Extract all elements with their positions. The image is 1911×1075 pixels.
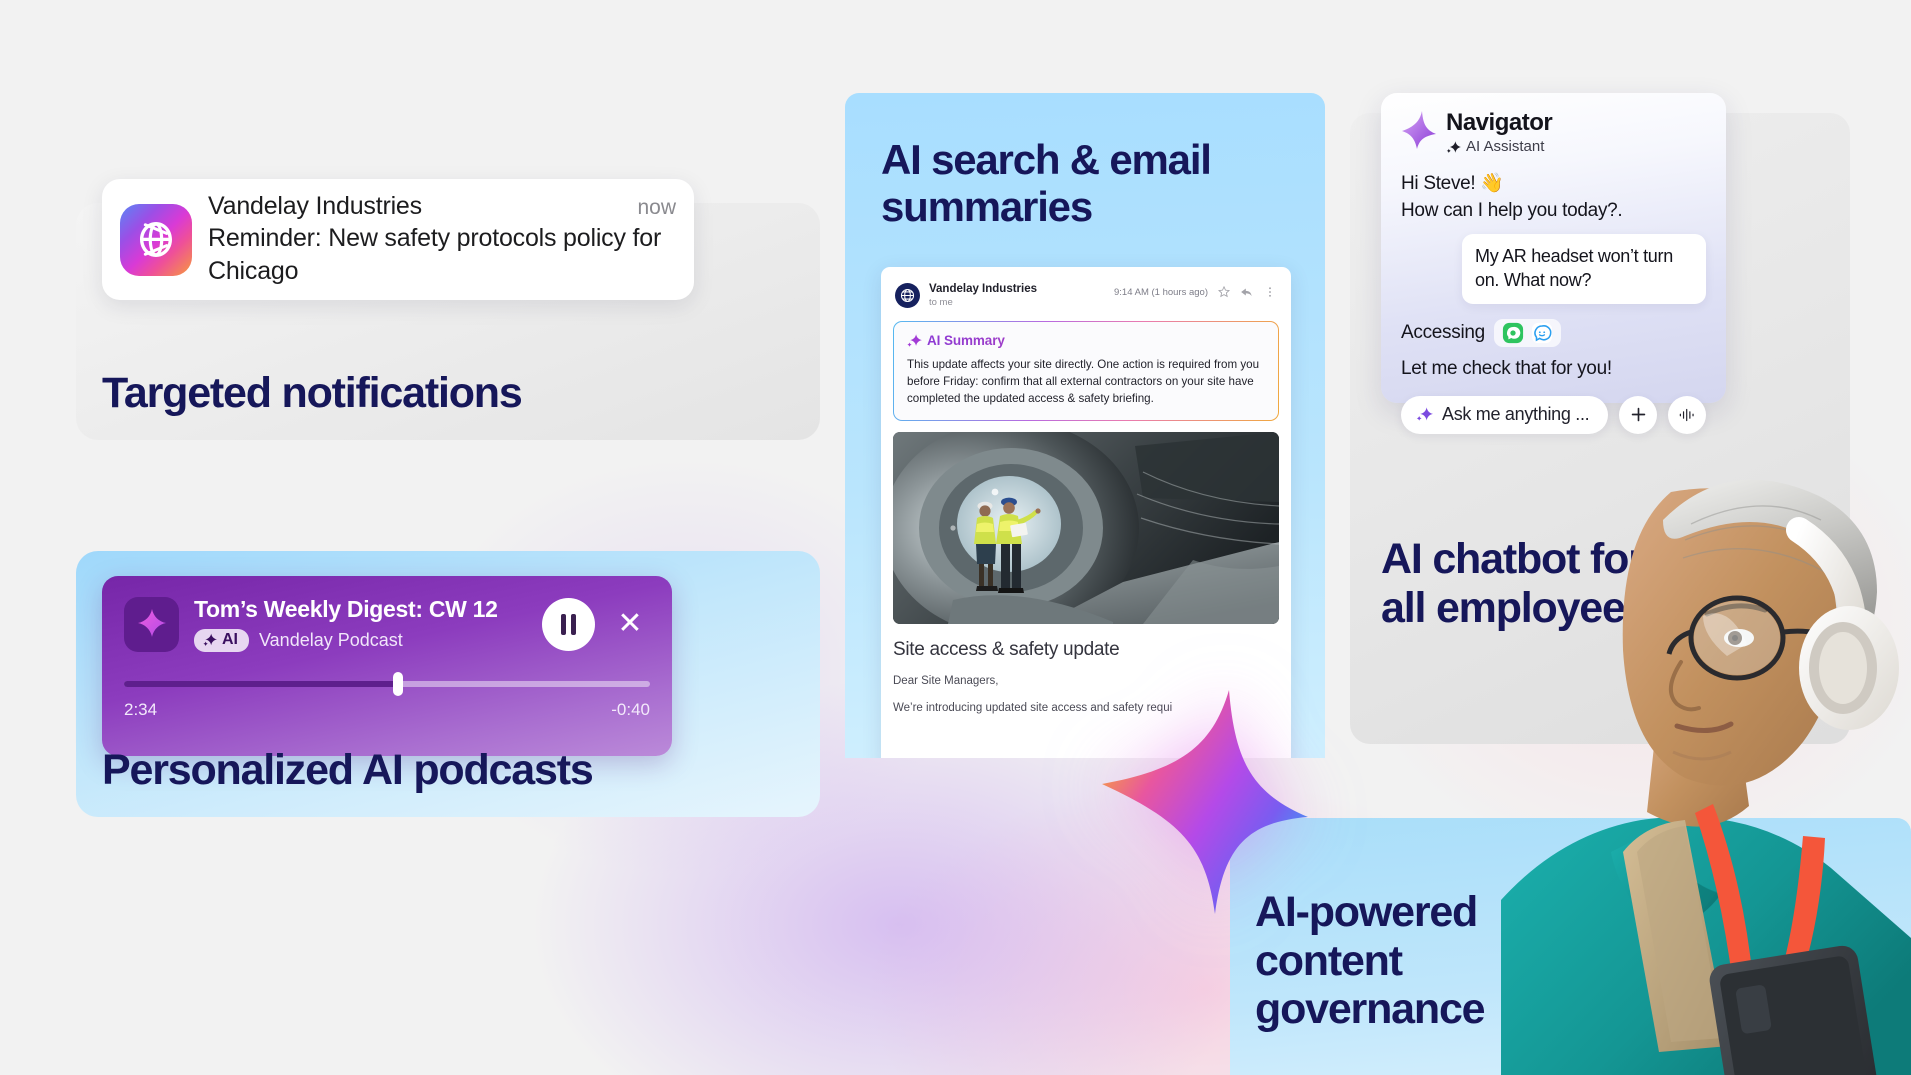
personalized-podcasts-card: Tom’s Weekly Digest: CW 12 AI Vandelay P… — [76, 551, 820, 817]
email-header: Vandelay Industries to me 9:14 AM (1 hou… — [881, 267, 1291, 317]
podcast-channel: Vandelay Podcast — [259, 630, 403, 651]
ai-summary-header: AI Summary — [907, 333, 1265, 348]
email-summaries-heading: AI search & email summaries — [881, 136, 1281, 230]
star-icon[interactable] — [1217, 285, 1231, 299]
ai-summary-panel: AI Summary This update affects your site… — [893, 321, 1279, 421]
targeted-notifications-label: Targeted notifications — [102, 369, 522, 418]
email-recipient[interactable]: to me — [929, 297, 1105, 308]
ai-summary-text: This update affects your site directly. … — [907, 356, 1265, 407]
chat-input-row: Ask me anything ... — [1401, 396, 1706, 434]
progress-handle[interactable] — [393, 672, 403, 696]
ask-input[interactable]: Ask me anything ... — [1401, 396, 1608, 434]
assistant-role-label: AI Assistant — [1466, 139, 1544, 155]
more-vertical-icon[interactable] — [1263, 285, 1277, 299]
podcast-player: Tom’s Weekly Digest: CW 12 AI Vandelay P… — [102, 576, 672, 756]
reply-icon[interactable] — [1240, 285, 1254, 299]
podcast-title: Tom’s Weekly Digest: CW 12 — [194, 596, 527, 623]
notification-toast[interactable]: Vandelay Industries now Reminder: New sa… — [102, 179, 694, 300]
assistant-greeting-question: How can I help you today?. — [1401, 200, 1706, 222]
notification-sender: Vandelay Industries — [208, 192, 637, 221]
waveform-icon — [1678, 407, 1697, 423]
email-hero-photo — [893, 432, 1279, 624]
ai-badge-label: AI — [222, 631, 238, 649]
plus-icon — [1629, 405, 1648, 424]
assistant-reply: Let me check that for you! — [1401, 358, 1706, 380]
add-attachment-button[interactable] — [1619, 396, 1657, 434]
assistant-name: Navigator — [1446, 110, 1552, 135]
sparkle-icon — [1446, 140, 1461, 155]
podcast-artwork-sparkle-icon — [124, 597, 179, 652]
assistant-role: AI Assistant — [1446, 139, 1552, 155]
navigator-sparkle-icon — [1401, 110, 1437, 155]
green-app-icon — [1502, 322, 1524, 344]
user-message-bubble: My AR headset won’t turn on. What now? — [1462, 234, 1706, 304]
pause-button[interactable] — [542, 598, 595, 651]
email-sender: Vandelay Industries — [929, 283, 1105, 295]
progress-fill — [124, 681, 398, 687]
pause-icon — [561, 614, 566, 635]
targeted-notifications-card: Vandelay Industries now Reminder: New sa… — [76, 203, 820, 440]
email-summaries-card: AI search & email summaries Vandelay Ind… — [845, 93, 1325, 758]
ai-badge: AI — [194, 629, 249, 652]
email-timestamp: 9:14 AM (1 hours ago) — [1114, 287, 1208, 298]
globe-icon — [895, 283, 920, 308]
email-mockup: Vandelay Industries to me 9:14 AM (1 hou… — [881, 267, 1291, 758]
blue-app-icon — [1531, 322, 1553, 344]
remaining-time: -0:40 — [611, 700, 650, 720]
notification-body: Vandelay Industries now Reminder: New sa… — [208, 192, 676, 287]
sparkle-icon — [203, 633, 217, 647]
four-point-sparkle-icon — [1096, 686, 1312, 918]
notification-message: Reminder: New safety protocols policy fo… — [208, 222, 676, 287]
accessing-label: Accessing — [1401, 322, 1485, 344]
ask-input-placeholder: Ask me anything ... — [1442, 404, 1589, 425]
ai-summary-title: AI Summary — [927, 333, 1005, 348]
personalized-podcasts-label: Personalized AI podcasts — [102, 746, 593, 795]
pause-icon — [571, 614, 576, 635]
accessing-apps-chip — [1494, 319, 1561, 347]
voice-input-button[interactable] — [1668, 396, 1706, 434]
chat-header: Navigator AI Assistant — [1401, 110, 1706, 155]
elapsed-time: 2:34 — [124, 700, 157, 720]
notification-timestamp: now — [637, 196, 676, 220]
assistant-greeting: Hi Steve! 👋 — [1401, 171, 1706, 195]
navigator-chat-widget: Navigator AI Assistant Hi Steve! 👋 How c… — [1381, 93, 1726, 403]
close-player-button[interactable]: ✕ — [610, 604, 650, 644]
sparkle-icon — [1416, 406, 1433, 423]
podcast-progress-slider[interactable] — [124, 681, 650, 687]
accessing-row: Accessing — [1401, 319, 1706, 347]
sparkle-icon — [907, 333, 922, 348]
globe-gradient-icon — [120, 204, 192, 276]
ai-chatbot-label: AI chatbot for all employees — [1381, 535, 1671, 632]
email-subject: Site access & safety update — [893, 639, 1279, 661]
